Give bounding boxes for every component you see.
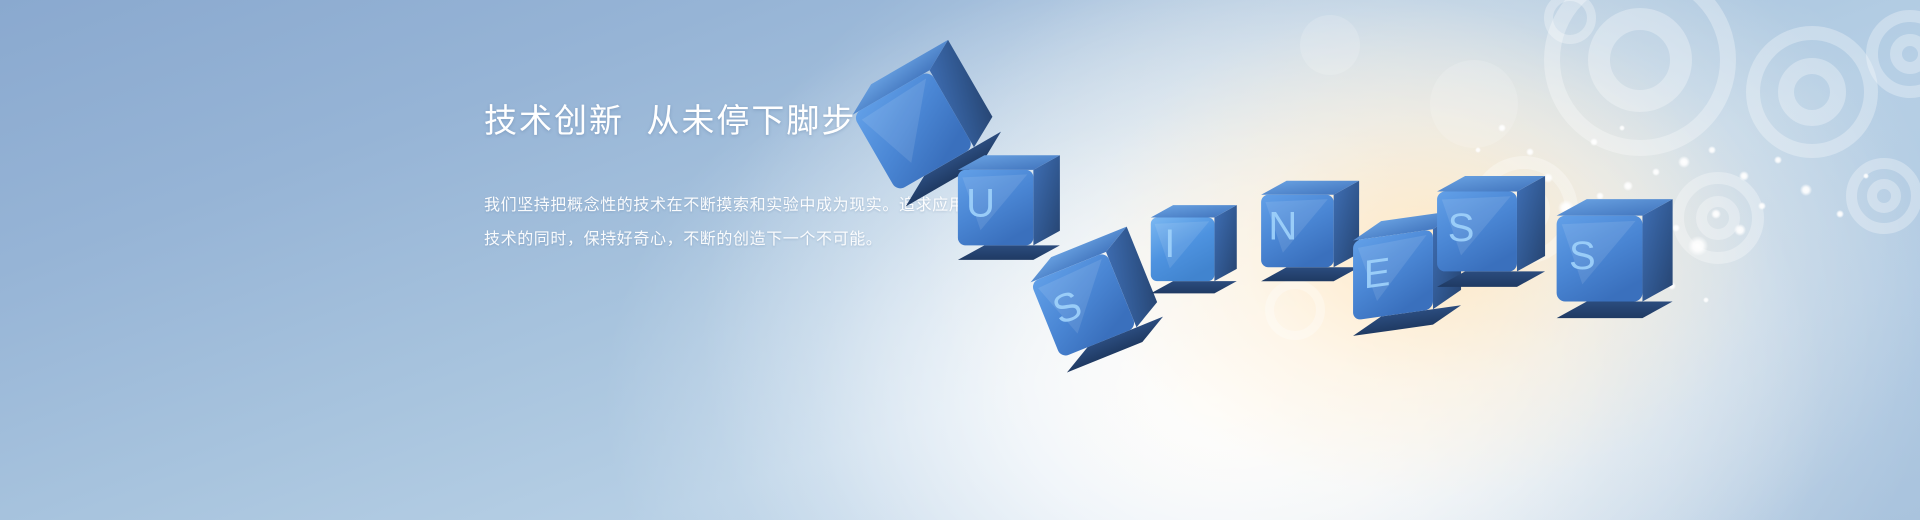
svg-text:S: S: [1448, 206, 1475, 250]
hero-banner: USINESS 技术创新 从未停下脚步 我们坚持把概念性的技术在不断摸索和实验中…: [0, 0, 1920, 520]
keycap-s-left: S: [1016, 238, 1126, 348]
keycap-s-right: S: [1534, 184, 1650, 300]
keycap-u: U: [938, 142, 1040, 244]
keycap-group: USINESS: [0, 0, 1920, 520]
svg-text:I: I: [1164, 222, 1175, 266]
svg-text:S: S: [1569, 234, 1596, 278]
svg-text:E: E: [1364, 249, 1391, 298]
svg-text:U: U: [966, 182, 995, 226]
keycap-s-mid: S: [1416, 162, 1524, 270]
page-title: 技术创新 从未停下脚步: [484, 100, 1104, 141]
keycap-i: I: [1134, 194, 1220, 280]
keycap-n: N: [1242, 168, 1340, 266]
svg-text:N: N: [1268, 205, 1297, 249]
